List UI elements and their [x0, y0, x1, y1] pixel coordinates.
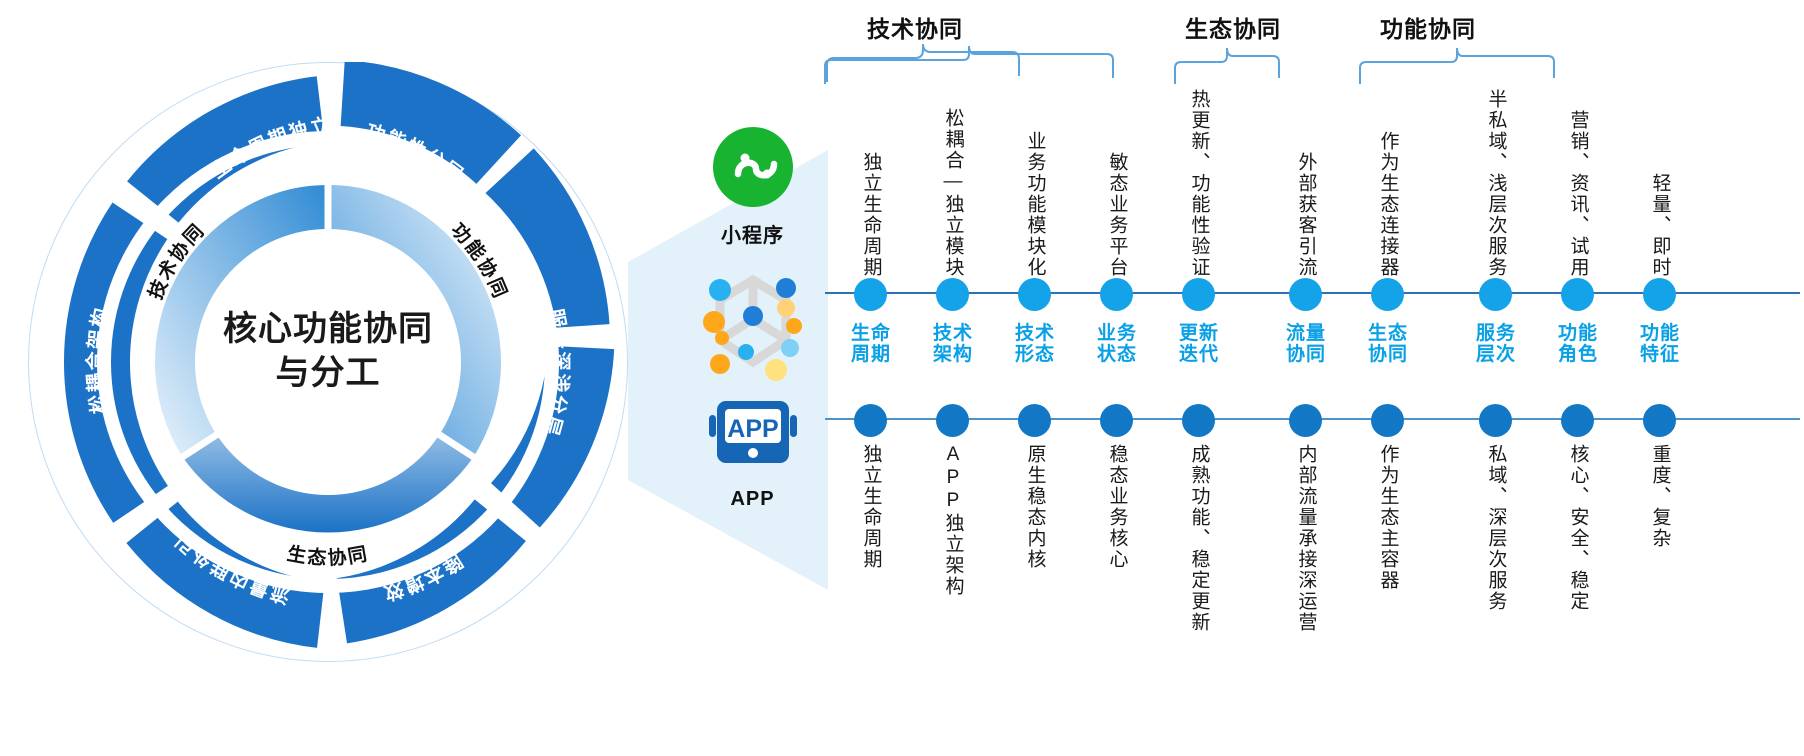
top-label-text: 外部获客引流 — [1297, 152, 1316, 278]
column-top-label-5: 外部获客引流 — [1270, 86, 1342, 278]
miniprogram-icon — [712, 126, 794, 208]
column-bottom-label-1: APP独立架构 — [917, 444, 989, 744]
top-label-text: 轻量、即时 — [1651, 173, 1670, 278]
column-mid-label-1: 技术架构 — [917, 324, 989, 365]
timeline-dot-top-1[interactable] — [936, 278, 969, 311]
column-top-label-8: 营销、资讯、试用 — [1542, 86, 1614, 278]
bottom-label-text: 核心、安全、稳定 — [1569, 444, 1588, 612]
platform-icon-column: 小程序 — [690, 126, 815, 511]
molecule-block — [690, 264, 815, 387]
mid-line-1: 服务 — [1460, 324, 1532, 345]
top-label-text: 独立生命周期 — [862, 152, 881, 278]
column-bottom-label-2: 原生稳态内核 — [999, 444, 1071, 744]
timeline-dot-bottom-1[interactable] — [936, 404, 969, 437]
bottom-label-text: 原生稳态内核 — [1026, 444, 1045, 570]
comparison-column-9: 轻量、即时功能特征重度、复杂 — [1624, 0, 1696, 756]
mid-line-2: 周期 — [835, 345, 907, 366]
svg-text:APP: APP — [727, 415, 778, 443]
column-mid-label-5: 流量协同 — [1270, 324, 1342, 365]
mid-line-2: 架构 — [917, 345, 989, 366]
mid-line-1: 功能 — [1624, 324, 1696, 345]
top-label-text: 敏态业务平台 — [1108, 152, 1127, 278]
mid-line-1: 功能 — [1542, 324, 1614, 345]
timeline-dot-top-3[interactable] — [1100, 278, 1133, 311]
column-bottom-label-6: 作为生态主容器 — [1352, 444, 1424, 744]
timeline-dot-bottom-5[interactable] — [1289, 404, 1322, 437]
mid-line-2: 层次 — [1460, 345, 1532, 366]
column-mid-label-2: 技术形态 — [999, 324, 1071, 365]
comparison-column-0: 独立生命周期生命周期独立生命周期 — [835, 0, 907, 756]
timeline-dot-top-2[interactable] — [1018, 278, 1051, 311]
center-title: 核心功能协同 与分工 — [178, 307, 478, 395]
mid-line-1: 生命 — [835, 324, 907, 345]
top-label-text: 热更新、功能性验证 — [1190, 89, 1209, 278]
column-mid-label-8: 功能角色 — [1542, 324, 1614, 365]
bottom-label-text: 重度、复杂 — [1651, 444, 1670, 549]
timeline-dot-top-5[interactable] — [1289, 278, 1322, 311]
timeline-dot-bottom-8[interactable] — [1561, 404, 1594, 437]
mid-line-2: 状态 — [1081, 345, 1153, 366]
top-label-text: 松耦合—独立模块 — [944, 108, 963, 278]
mid-line-2: 协同 — [1270, 345, 1342, 366]
comparison-column-2: 业务功能模块化技术形态原生稳态内核 — [999, 0, 1071, 756]
column-top-label-3: 敏态业务平台 — [1081, 86, 1153, 278]
column-top-label-0: 独立生命周期 — [835, 86, 907, 278]
column-bottom-label-5: 内部流量承接深运营 — [1270, 444, 1342, 744]
mid-line-1: 技术 — [999, 324, 1071, 345]
comparison-grid: 技术协同 生态协同 功能协同 独立生命周期生命周期独立生命周期松耦合—独立模块技… — [815, 0, 1804, 756]
bottom-label-text: 内部流量承接深运营 — [1297, 444, 1316, 633]
timeline-dot-top-8[interactable] — [1561, 278, 1594, 311]
top-label-text: 业务功能模块化 — [1026, 131, 1045, 278]
comparison-column-8: 营销、资讯、试用功能角色核心、安全、稳定 — [1542, 0, 1614, 756]
app-caption: APP — [690, 488, 815, 511]
miniprogram-caption: 小程序 — [690, 219, 815, 248]
column-top-label-4: 热更新、功能性验证 — [1163, 86, 1235, 278]
column-bottom-label-9: 重度、复杂 — [1624, 444, 1696, 744]
mid-line-2: 形态 — [999, 345, 1071, 366]
center-title-line1: 核心功能协同 — [178, 307, 478, 351]
column-mid-label-6: 生态协同 — [1352, 324, 1424, 365]
column-mid-label-9: 功能特征 — [1624, 324, 1696, 365]
column-top-label-2: 业务功能模块化 — [999, 86, 1071, 278]
timeline-dot-bottom-3[interactable] — [1100, 404, 1133, 437]
timeline-dot-top-7[interactable] — [1479, 278, 1512, 311]
comparison-column-6: 作为生态连接器生态协同作为生态主容器 — [1352, 0, 1424, 756]
timeline-dot-bottom-2[interactable] — [1018, 404, 1051, 437]
app-icon: APP — [707, 399, 799, 477]
timeline-dot-bottom-6[interactable] — [1371, 404, 1404, 437]
comparison-column-4: 热更新、功能性验证更新迭代成熟功能、稳定更新 — [1163, 0, 1235, 756]
bottom-label-text: 成熟功能、稳定更新 — [1190, 444, 1209, 633]
column-bottom-label-8: 核心、安全、稳定 — [1542, 444, 1614, 744]
comparison-column-5: 外部获客引流流量协同内部流量承接深运营 — [1270, 0, 1342, 756]
center-title-line2: 与分工 — [178, 351, 478, 395]
bottom-label-text: 独立生命周期 — [862, 444, 881, 570]
mid-line-1: 业务 — [1081, 324, 1153, 345]
timeline-dot-top-6[interactable] — [1371, 278, 1404, 311]
timeline-dot-bottom-0[interactable] — [854, 404, 887, 437]
mid-line-1: 流量 — [1270, 324, 1342, 345]
column-bottom-label-4: 成熟功能、稳定更新 — [1163, 444, 1235, 744]
timeline-dot-top-9[interactable] — [1643, 278, 1676, 311]
mid-line-1: 技术 — [917, 324, 989, 345]
mid-line-2: 特征 — [1624, 345, 1696, 366]
molecule-icon — [698, 264, 808, 382]
comparison-column-7: 半私域、浅层次服务服务层次私域、深层次服务 — [1460, 0, 1532, 756]
timeline-dot-bottom-7[interactable] — [1479, 404, 1512, 437]
bottom-label-text: APP独立架构 — [944, 444, 963, 597]
bottom-label-text: 作为生态主容器 — [1379, 444, 1398, 591]
mid-line-2: 迭代 — [1163, 345, 1235, 366]
top-label-text: 作为生态连接器 — [1379, 131, 1398, 278]
column-mid-label-0: 生命周期 — [835, 324, 907, 365]
column-top-label-1: 松耦合—独立模块 — [917, 86, 989, 278]
bottom-label-text: 稳态业务核心 — [1108, 444, 1127, 570]
column-mid-label-7: 服务层次 — [1460, 324, 1532, 365]
column-mid-label-3: 业务状态 — [1081, 324, 1153, 365]
column-mid-label-4: 更新迭代 — [1163, 324, 1235, 365]
miniprogram-block: 小程序 — [690, 126, 815, 248]
bottom-label-text: 私域、深层次服务 — [1487, 444, 1506, 612]
column-bottom-label-7: 私域、深层次服务 — [1460, 444, 1532, 744]
column-bottom-label-0: 独立生命周期 — [835, 444, 907, 744]
mid-line-1: 生态 — [1352, 324, 1424, 345]
mid-line-2: 角色 — [1542, 345, 1614, 366]
mid-line-2: 协同 — [1352, 345, 1424, 366]
column-bottom-label-3: 稳态业务核心 — [1081, 444, 1153, 744]
timeline-dot-top-4[interactable] — [1182, 278, 1215, 311]
column-top-label-6: 作为生态连接器 — [1352, 86, 1424, 278]
top-label-text: 营销、资讯、试用 — [1569, 110, 1588, 278]
column-top-label-7: 半私域、浅层次服务 — [1460, 86, 1532, 278]
timeline-dot-top-0[interactable] — [854, 278, 887, 311]
timeline-dot-bottom-4[interactable] — [1182, 404, 1215, 437]
infographic-canvas: 生命周期独立 功能性分层 服务深浅分层 降本增效 流量内联外引 松耦合架构 技术… — [0, 0, 1804, 756]
app-block: APP APP — [690, 399, 815, 511]
concentric-donut-chart: 生命周期独立 功能性分层 服务深浅分层 降本增效 流量内联外引 松耦合架构 技术… — [28, 62, 628, 662]
timeline-dot-bottom-9[interactable] — [1643, 404, 1676, 437]
mid-line-1: 更新 — [1163, 324, 1235, 345]
top-label-text: 半私域、浅层次服务 — [1487, 89, 1506, 278]
comparison-column-1: 松耦合—独立模块技术架构APP独立架构 — [917, 0, 989, 756]
comparison-column-3: 敏态业务平台业务状态稳态业务核心 — [1081, 0, 1153, 756]
column-top-label-9: 轻量、即时 — [1624, 86, 1696, 278]
